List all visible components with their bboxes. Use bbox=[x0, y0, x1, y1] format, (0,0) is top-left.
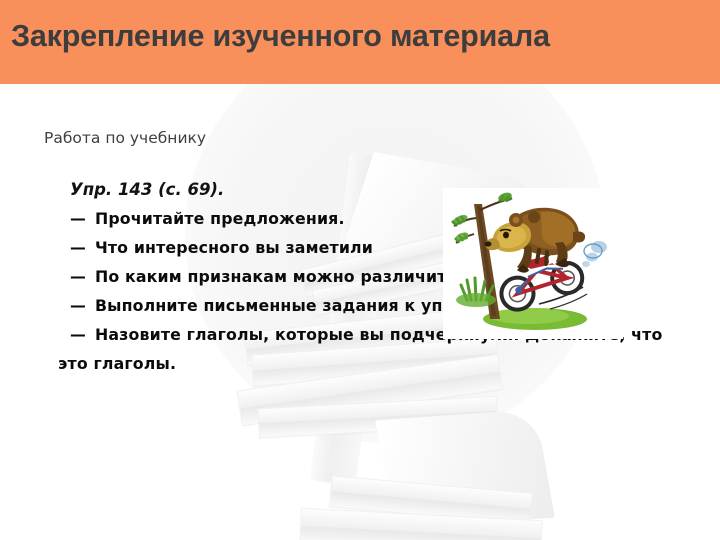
em-dash-icon: — bbox=[70, 296, 86, 315]
task-item-text: Прочитайте предложения. bbox=[95, 209, 345, 228]
em-dash-icon: — bbox=[70, 325, 86, 344]
subheading: Работа по учебнику bbox=[44, 128, 206, 148]
em-dash-icon: — bbox=[70, 209, 86, 228]
title-banner: Закрепление изученного материала bbox=[0, 0, 720, 84]
em-dash-icon: — bbox=[70, 267, 86, 286]
slide-title: Закрепление изученного материала bbox=[11, 17, 550, 55]
em-dash-icon: — bbox=[70, 238, 86, 257]
bear-on-motorcycle-illustration bbox=[443, 188, 623, 339]
slide-body: Работа по учебнику Упр. 143 (с. 69). —Пр… bbox=[0, 84, 720, 540]
task-item-text: Что интересного вы заметили bbox=[95, 238, 373, 257]
slide: Закрепление изученного материала Работа … bbox=[0, 0, 720, 540]
